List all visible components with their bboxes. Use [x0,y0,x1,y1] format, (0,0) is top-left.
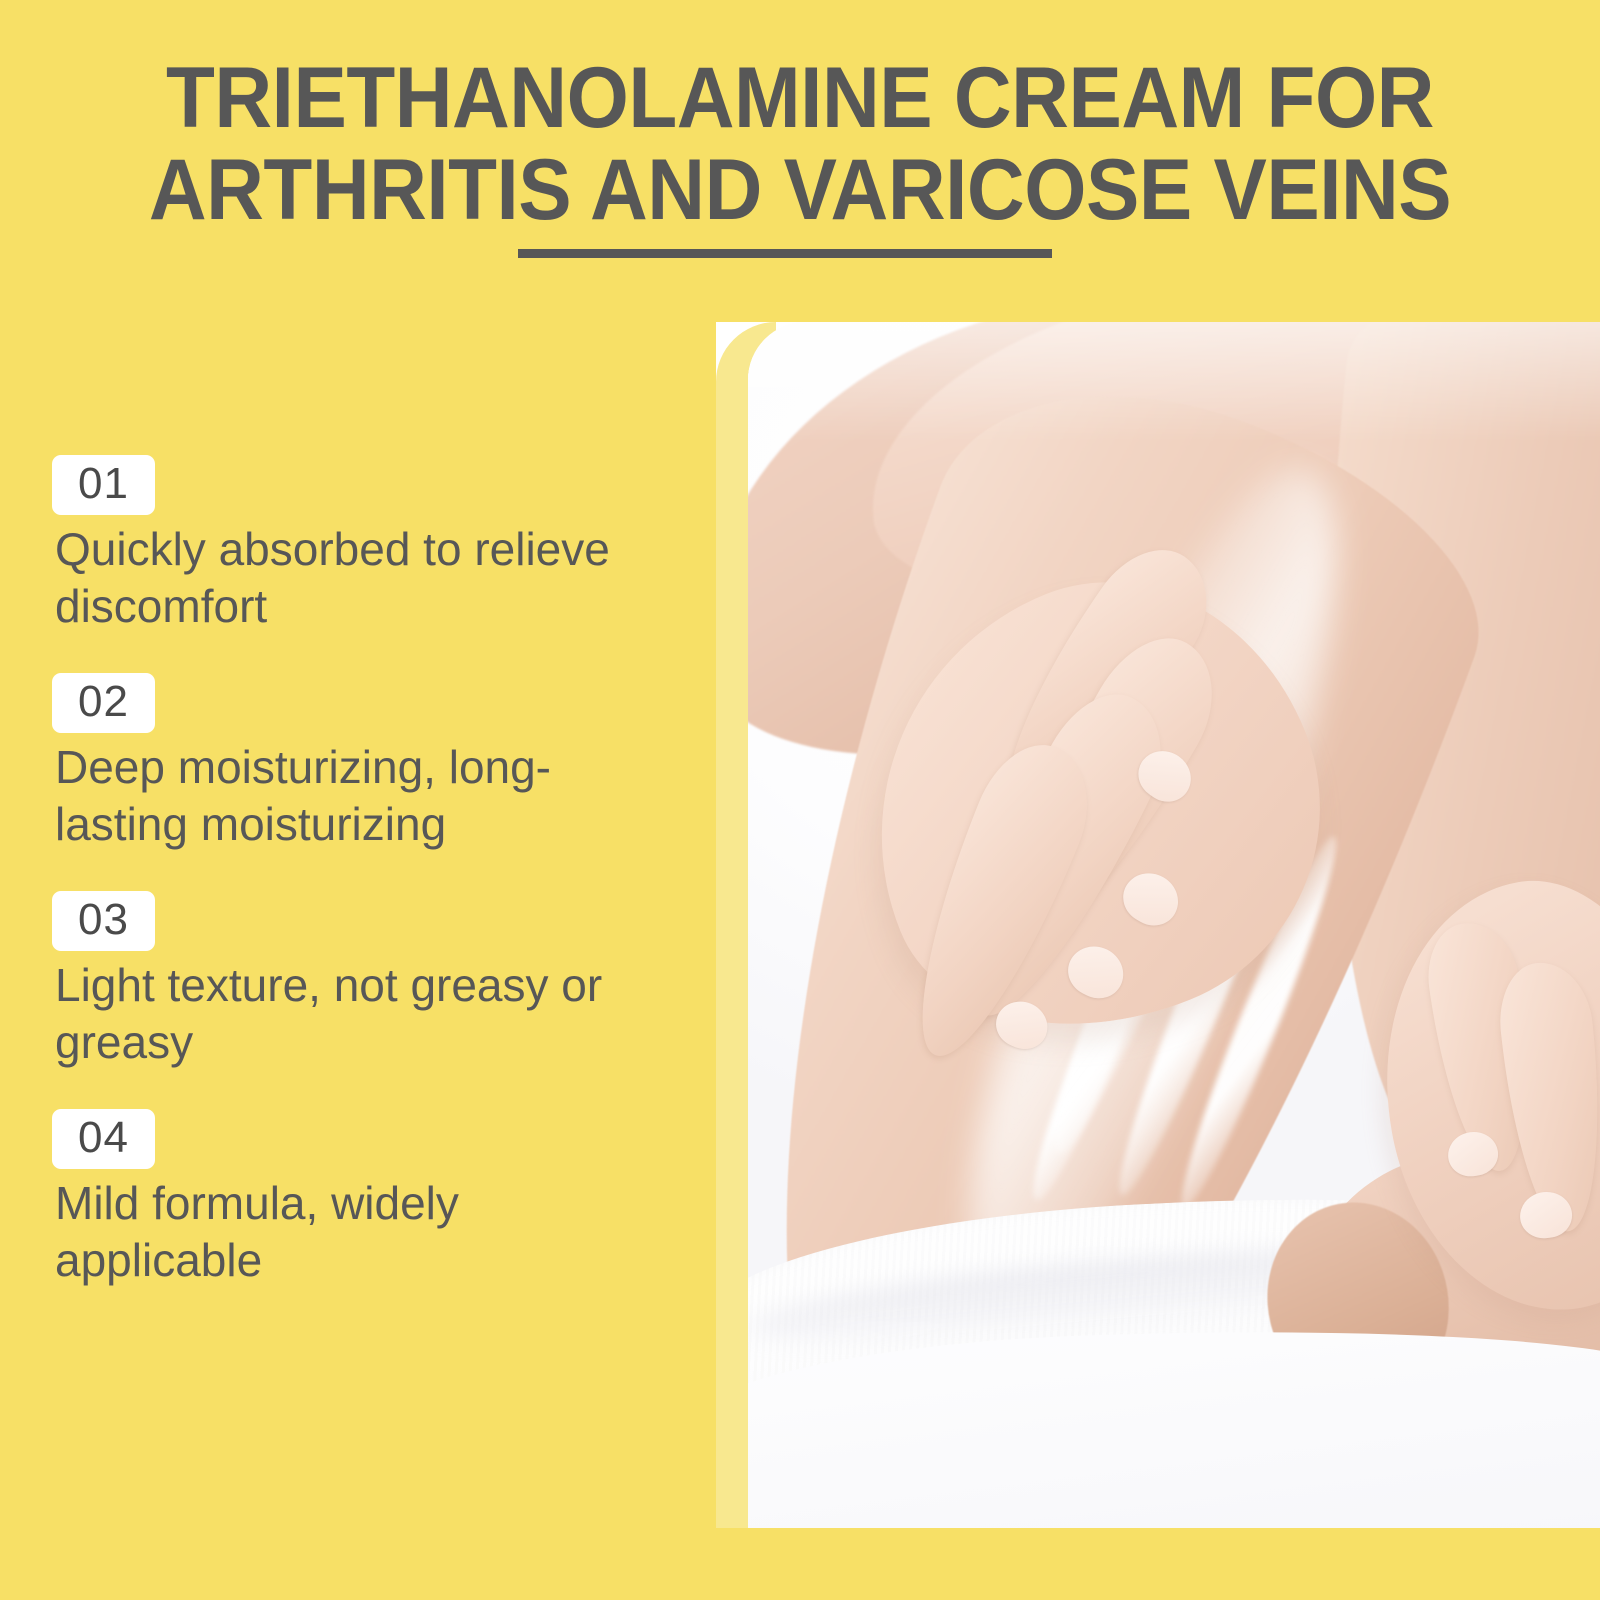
header-band: TRIETHANOLAMINE CREAM FOR ARTHRITIS AND … [0,0,1600,322]
feature-number-badge: 04 [52,1109,155,1169]
page-title-line-1: TRIETHANOLAMINE CREAM FOR [56,52,1544,144]
title-underline [518,249,1052,258]
feature-item: 02 Deep moisturizing, long-lasting moist… [52,673,692,853]
feature-item: 03 Light texture, not greasy or greasy [52,891,692,1071]
page-title-line-2: ARTHRITIS AND VARICOSE VEINS [56,144,1544,236]
feature-number-badge: 02 [52,673,155,733]
feature-number-badge: 01 [52,455,155,515]
feature-text: Light texture, not greasy or greasy [55,957,675,1071]
feature-list: 01 Quickly absorbed to relieve discomfor… [52,455,692,1327]
bottom-yellow-strip [0,1528,1600,1600]
feature-item: 04 Mild formula, widely applicable [52,1109,692,1289]
feature-text: Quickly absorbed to relieve discomfort [55,521,675,635]
features-column: 01 Quickly absorbed to relieve discomfor… [0,322,716,1600]
feature-text: Deep moisturizing, long-lasting moisturi… [55,739,675,853]
feature-item: 01 Quickly absorbed to relieve discomfor… [52,455,692,635]
feature-text: Mild formula, widely applicable [55,1175,675,1289]
photo-top-fade [748,322,1600,442]
page-title: TRIETHANOLAMINE CREAM FOR ARTHRITIS AND … [0,52,1600,236]
infographic-canvas: 01 Quickly absorbed to relieve discomfor… [0,0,1600,1600]
product-photo [748,322,1600,1528]
feature-number-badge: 03 [52,891,155,951]
